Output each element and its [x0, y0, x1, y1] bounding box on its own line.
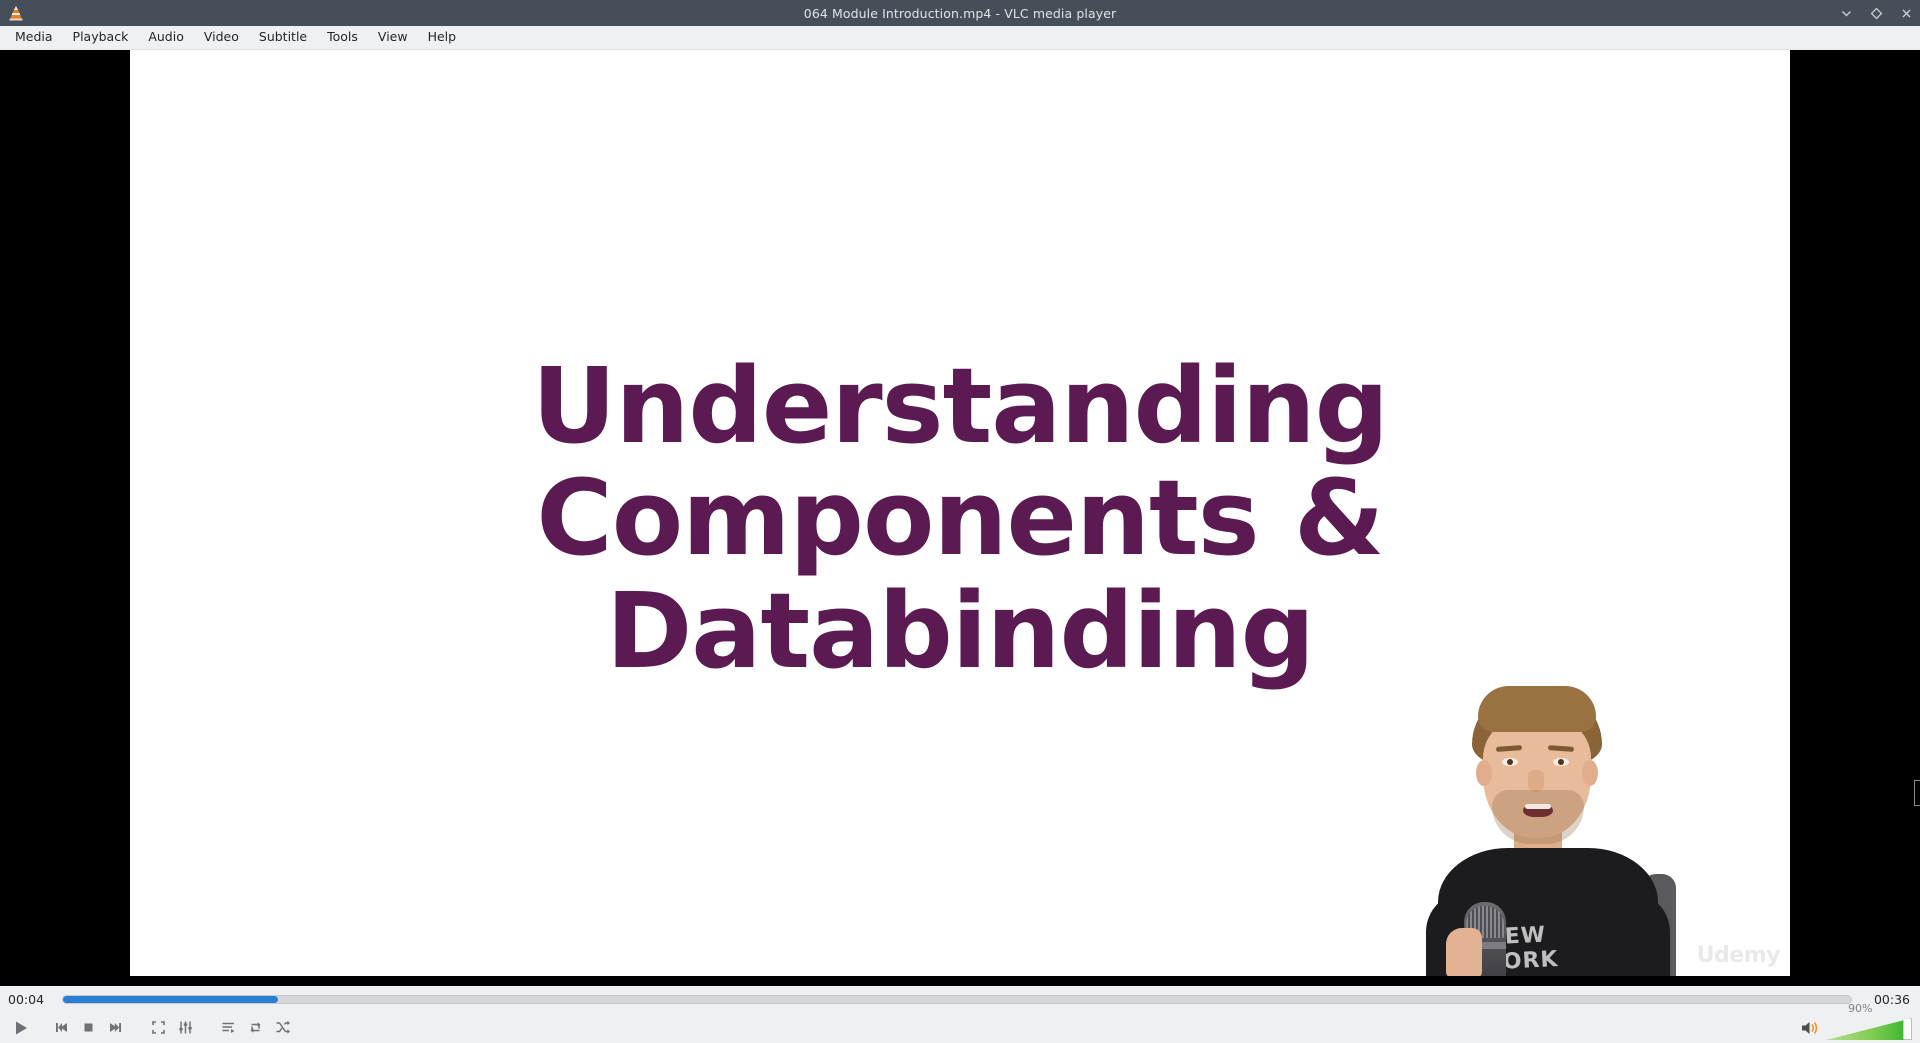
- button-row: [0, 1012, 1920, 1043]
- nose: [1528, 770, 1544, 792]
- loop-button[interactable]: [242, 1014, 269, 1041]
- udemy-watermark: Udemy: [1697, 943, 1780, 968]
- close-icon[interactable]: [1898, 5, 1914, 21]
- volume-control[interactable]: 90%: [1798, 1012, 1912, 1043]
- playlist-button[interactable]: [215, 1014, 242, 1041]
- seek-row: 00:04 00:36: [0, 986, 1920, 1012]
- slide-title-line1: Understanding: [130, 350, 1790, 462]
- tshirt-text: NEW YORK: [1485, 918, 1627, 975]
- video-output-area[interactable]: Understanding Components & Databinding N…: [0, 50, 1920, 986]
- volume-percent-label: 90%: [1848, 1002, 1872, 1015]
- menu-bar: Media Playback Audio Video Subtitle Tool…: [0, 26, 1920, 50]
- menu-item-audio[interactable]: Audio: [138, 28, 194, 47]
- menu-item-help[interactable]: Help: [418, 28, 467, 47]
- menu-item-playback[interactable]: Playback: [63, 28, 139, 47]
- window-title: 064 Module Introduction.mp4 - VLC media …: [0, 6, 1920, 21]
- stop-button[interactable]: [75, 1014, 102, 1041]
- fullscreen-button[interactable]: [145, 1014, 172, 1041]
- title-bar: 064 Module Introduction.mp4 - VLC media …: [0, 0, 1920, 26]
- pupil-right: [1558, 759, 1564, 765]
- slide-title: Understanding Components & Databinding: [130, 350, 1790, 687]
- menu-item-tools[interactable]: Tools: [317, 28, 368, 47]
- presenter-video-inset: NEW YORK: [1420, 686, 1720, 976]
- play-button[interactable]: [4, 1013, 38, 1042]
- menu-item-media[interactable]: Media: [5, 28, 63, 47]
- vlc-cone-icon: [3, 0, 29, 26]
- shuffle-button[interactable]: [269, 1014, 296, 1041]
- speaker-icon[interactable]: [1798, 1015, 1822, 1043]
- volume-slider[interactable]: 90%: [1826, 1016, 1912, 1042]
- chevron-down-icon[interactable]: [1838, 5, 1854, 21]
- teeth: [1525, 804, 1551, 809]
- window-controls: [1838, 0, 1914, 26]
- slide-title-line3: Databinding: [130, 575, 1790, 687]
- beard: [1492, 790, 1584, 844]
- diamond-icon[interactable]: [1868, 5, 1884, 21]
- previous-button[interactable]: [48, 1014, 75, 1041]
- hand: [1446, 928, 1482, 976]
- ear-left: [1476, 760, 1492, 786]
- menu-item-video[interactable]: Video: [194, 28, 249, 47]
- seek-slider[interactable]: [62, 995, 1852, 1004]
- ear-right: [1582, 760, 1598, 786]
- menu-item-subtitle[interactable]: Subtitle: [249, 28, 317, 47]
- extended-settings-button[interactable]: [172, 1014, 199, 1041]
- next-button[interactable]: [102, 1014, 129, 1041]
- elapsed-time[interactable]: 00:04: [0, 992, 56, 1007]
- mouse-cursor-indicator: [1914, 780, 1920, 806]
- control-bar: 00:04 00:36: [0, 986, 1920, 1043]
- menu-item-view[interactable]: View: [368, 28, 418, 47]
- seek-progress-fill: [63, 996, 278, 1003]
- hair-front: [1478, 686, 1596, 732]
- video-frame[interactable]: Understanding Components & Databinding N…: [130, 50, 1790, 976]
- slide-title-line2: Components &: [130, 462, 1790, 574]
- pupil-left: [1507, 759, 1513, 765]
